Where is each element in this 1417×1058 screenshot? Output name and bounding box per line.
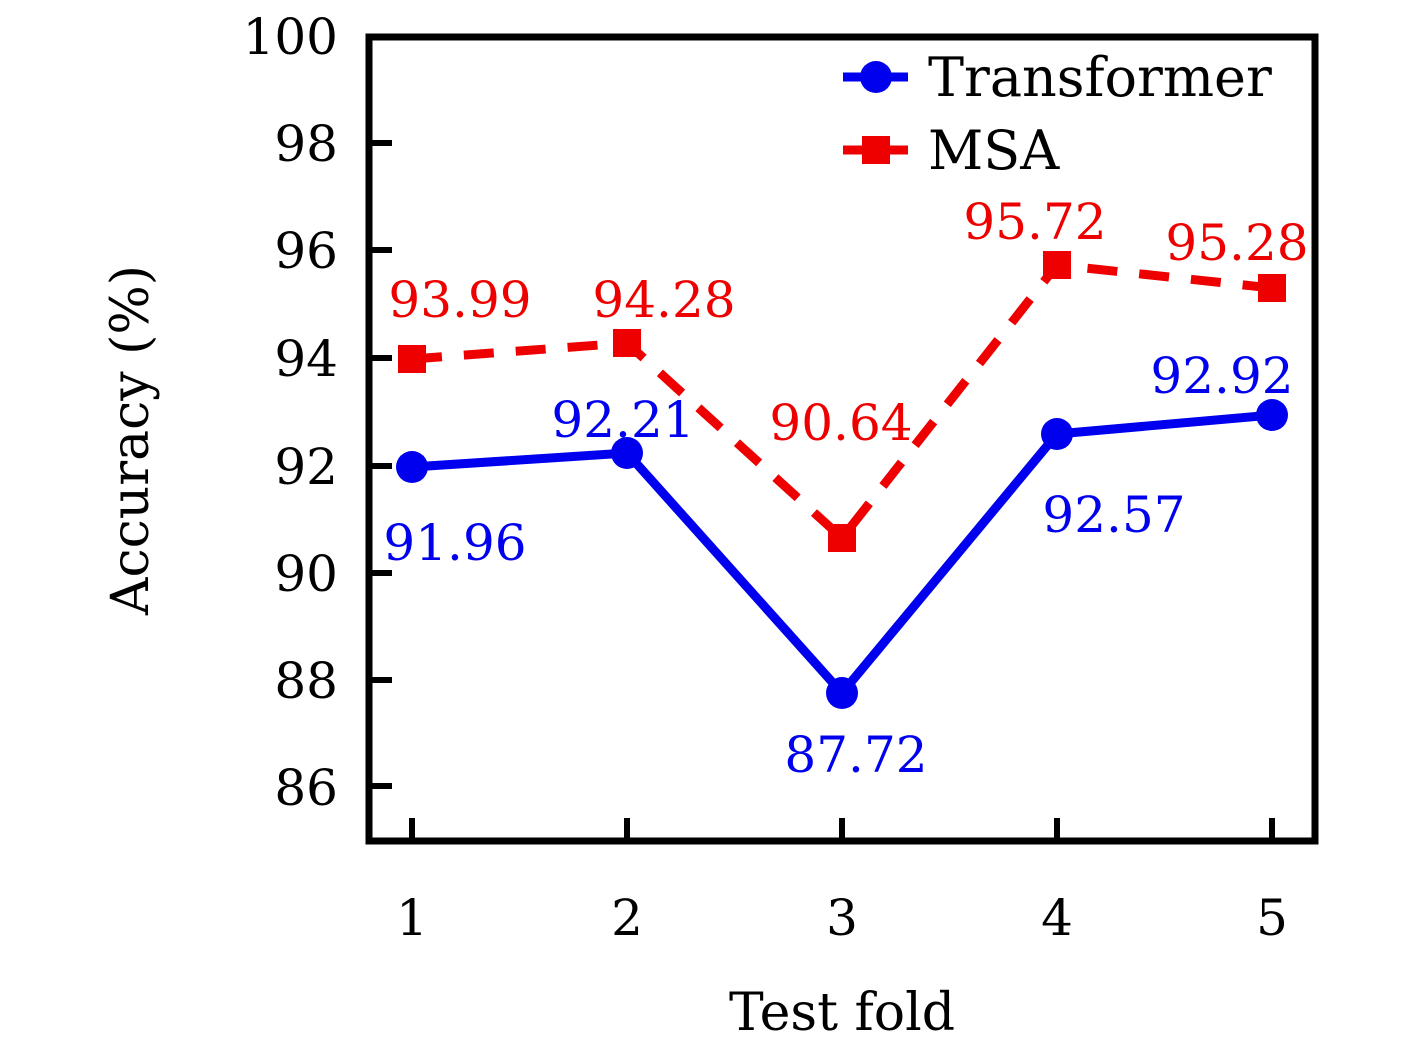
y-tick-label-94: 94 bbox=[274, 330, 338, 388]
data-label-transformer-3: 87.72 bbox=[784, 726, 927, 784]
x-tick-label-3: 3 bbox=[826, 889, 858, 947]
chart-figure: 100 98 96 94 92 90 88 86 1 2 3 4 5 Test … bbox=[0, 0, 1417, 1058]
data-label-transformer-4: 92.57 bbox=[1042, 486, 1185, 544]
series-msa-marker bbox=[613, 329, 641, 357]
legend-marker-circle-icon bbox=[860, 61, 892, 93]
series-msa-marker bbox=[828, 524, 856, 552]
series-msa-marker bbox=[398, 345, 426, 373]
x-tick-label-5: 5 bbox=[1256, 889, 1288, 947]
x-tick-label-1: 1 bbox=[396, 889, 428, 947]
data-label-msa-3: 90.64 bbox=[769, 394, 912, 452]
legend-label-transformer: Transformer bbox=[928, 46, 1272, 109]
y-tick-label-100: 100 bbox=[243, 8, 338, 66]
data-label-transformer-5: 92.92 bbox=[1150, 347, 1293, 405]
series-msa-marker bbox=[1258, 274, 1286, 302]
y-tick-label-86: 86 bbox=[274, 759, 338, 817]
data-label-transformer-1: 91.96 bbox=[383, 514, 526, 572]
y-tick-label-92: 92 bbox=[274, 438, 338, 496]
data-label-transformer-2: 92.21 bbox=[551, 391, 694, 449]
accuracy-line-chart: 100 98 96 94 92 90 88 86 1 2 3 4 5 Test … bbox=[0, 0, 1417, 1058]
y-tick-label-96: 96 bbox=[274, 222, 338, 280]
series-transformer-marker bbox=[396, 451, 428, 483]
y-axis-title: Accuracy (%) bbox=[101, 265, 161, 616]
y-tick-label-98: 98 bbox=[274, 115, 338, 173]
y-tick-label-90: 90 bbox=[274, 545, 338, 603]
x-tick-label-2: 2 bbox=[611, 889, 643, 947]
data-label-msa-2: 94.28 bbox=[592, 271, 735, 329]
x-tick-label-4: 4 bbox=[1041, 889, 1073, 947]
x-axis-title: Test fold bbox=[729, 983, 955, 1043]
data-label-msa-4: 95.72 bbox=[963, 193, 1106, 251]
legend-marker-square-icon bbox=[862, 136, 890, 164]
series-transformer-marker bbox=[826, 677, 858, 709]
y-tick-label-88: 88 bbox=[274, 652, 338, 710]
data-label-msa-5: 95.28 bbox=[1165, 214, 1308, 272]
series-transformer-marker bbox=[1041, 418, 1073, 450]
legend-label-msa: MSA bbox=[928, 119, 1060, 182]
series-msa-marker bbox=[1043, 251, 1071, 279]
data-label-msa-1: 93.99 bbox=[388, 271, 531, 329]
